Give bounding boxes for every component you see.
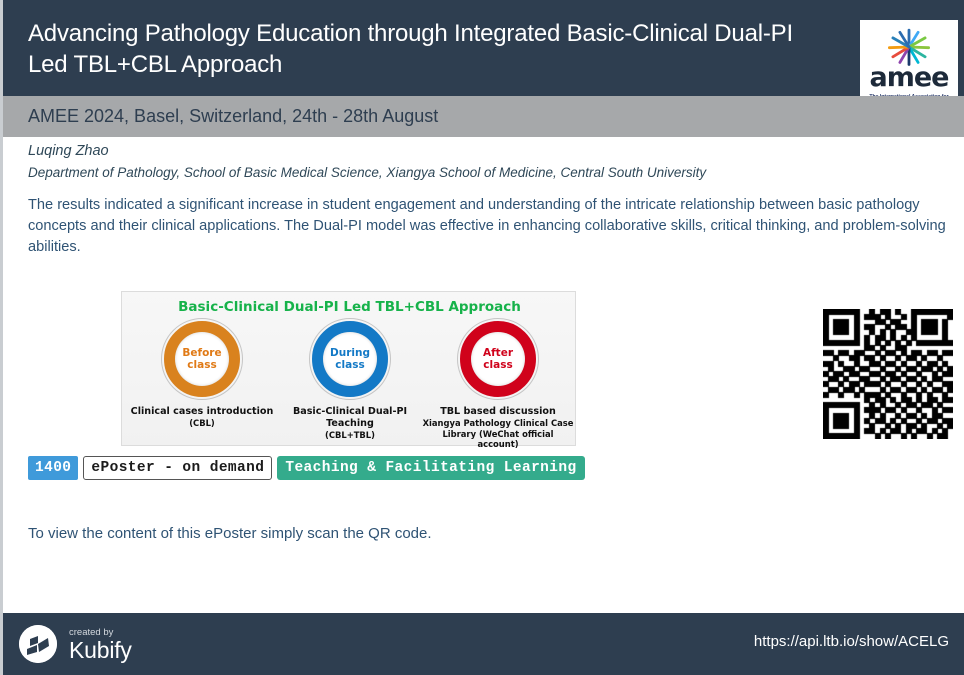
kubify-brand: Kubify bbox=[69, 637, 132, 663]
stage-label-line2: class bbox=[483, 359, 512, 371]
page-footer: created by Kubify https://api.ltb.io/sho… bbox=[3, 613, 964, 675]
stage-ring: During class bbox=[312, 321, 388, 397]
badge-time[interactable]: 1400 bbox=[28, 456, 78, 480]
stage-caption: Clinical cases introduction (CBL) bbox=[126, 406, 278, 429]
conference-bar: AMEE 2024, Basel, Switzerland, 24th - 28… bbox=[3, 96, 964, 137]
stage-caption: TBL based discussion Xiangya Pathology C… bbox=[422, 406, 574, 450]
stage-label-line1: Before bbox=[182, 347, 221, 359]
page-header: Advancing Pathology Education through In… bbox=[3, 0, 964, 96]
abstract-text: The results indicated a significant incr… bbox=[28, 195, 958, 258]
stage-label-line2: class bbox=[187, 359, 216, 371]
badge-theme[interactable]: Teaching & Facilitating Learning bbox=[277, 456, 584, 480]
diagram-title: Basic-Clinical Dual-PI Led TBL+CBL Appro… bbox=[122, 299, 577, 315]
stage-label-line2: class bbox=[335, 359, 364, 371]
stage-ring: Before class bbox=[164, 321, 240, 397]
stage-caption-main: Basic-Clinical Dual-PI Teaching bbox=[293, 406, 407, 429]
conference-info: AMEE 2024, Basel, Switzerland, 24th - 28… bbox=[28, 104, 438, 129]
stage-core-label: During class bbox=[323, 332, 377, 386]
stage-ring: After class bbox=[460, 321, 536, 397]
stage-caption-sub: Xiangya Pathology Clinical Case Library … bbox=[422, 418, 574, 450]
open-book-icon bbox=[19, 625, 57, 663]
presenter-affiliation: Department of Pathology, School of Basic… bbox=[28, 165, 706, 180]
page-title: Advancing Pathology Education through In… bbox=[28, 18, 833, 80]
approach-diagram: Basic-Clinical Dual-PI Led TBL+CBL Appro… bbox=[121, 291, 576, 446]
diagram-stage-after: After class TBL based discussion Xiangya… bbox=[422, 318, 574, 404]
eposter-url[interactable]: https://api.ltb.io/show/ACELG bbox=[754, 633, 949, 650]
presenter-name: Luqing Zhao bbox=[28, 143, 109, 159]
stage-core-label: After class bbox=[471, 332, 525, 386]
stage-caption-main: Clinical cases introduction bbox=[131, 406, 274, 417]
diagram-stage-before: Before class Clinical cases introduction… bbox=[126, 318, 278, 404]
stage-caption-sub: (CBL) bbox=[126, 418, 278, 429]
session-badges: 1400 ePoster - on demand Teaching & Faci… bbox=[28, 456, 585, 480]
stage-caption: Basic-Clinical Dual-PI Teaching (CBL+TBL… bbox=[274, 406, 426, 441]
eposter-page: Advancing Pathology Education through In… bbox=[0, 0, 964, 675]
amee-wordmark: amee bbox=[860, 64, 958, 92]
page-body: Luqing Zhao Department of Pathology, Sch… bbox=[3, 137, 964, 597]
stage-core-label: Before class bbox=[175, 332, 229, 386]
stage-label-line1: During bbox=[330, 347, 370, 359]
stage-label-line1: After bbox=[483, 347, 513, 359]
diagram-stage-during: During class Basic-Clinical Dual-PI Teac… bbox=[274, 318, 426, 404]
stage-caption-sub: (CBL+TBL) bbox=[274, 430, 426, 441]
stage-caption-main: TBL based discussion bbox=[440, 406, 556, 417]
qr-code[interactable] bbox=[823, 309, 953, 439]
scan-instruction: To view the content of this ePoster simp… bbox=[28, 525, 432, 542]
badge-type[interactable]: ePoster - on demand bbox=[83, 456, 272, 480]
